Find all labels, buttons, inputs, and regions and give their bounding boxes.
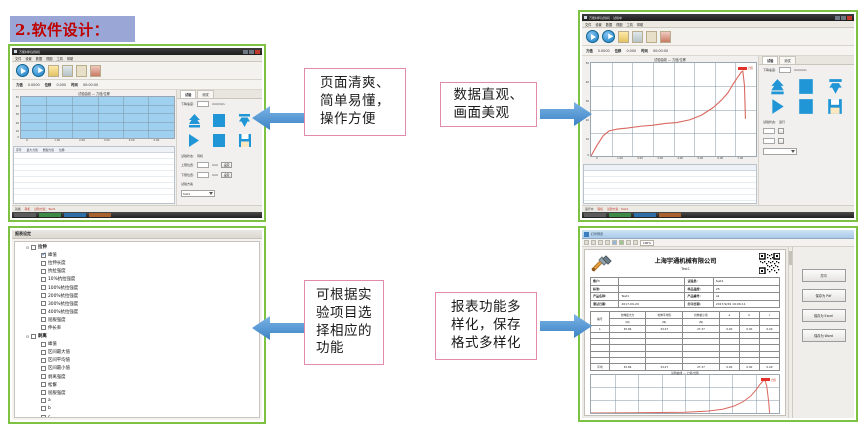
x-axis: 0 1.00 2.00 3.00 4.00 5.00 6.00 7.00 — [590, 157, 757, 163]
item-checkbox[interactable] — [41, 342, 46, 347]
page-scrollbar[interactable] — [788, 247, 792, 418]
item-checkbox[interactable] — [41, 277, 46, 282]
tree-item[interactable]: 200%抗拉强度 — [15, 292, 259, 300]
taskbar-item[interactable] — [89, 213, 111, 217]
app-window-idle: 万能材料试验机 文件 设置 数据 视图 工具 帮助 — [12, 48, 262, 218]
table-row: 标准: 样品温度: 25 — [591, 285, 780, 293]
test-state-label: 试验状态: — [181, 154, 194, 158]
lower-limit-set-button[interactable]: 设定 — [221, 172, 233, 178]
print-button[interactable]: 打印 — [802, 269, 846, 282]
cell: 45.66 — [609, 326, 646, 333]
item-checkbox[interactable] — [41, 317, 46, 322]
menu-item-help[interactable]: 帮助 — [637, 22, 643, 27]
x-tick: 1.00 — [54, 139, 60, 142]
col-b: b — [739, 312, 759, 319]
info-value: test1 — [713, 278, 779, 286]
tree-item-label: 区间最大值 — [48, 349, 70, 355]
save-pdf-button[interactable]: 保存为 Pdf — [802, 289, 846, 302]
tree-item-label: 区间最小值 — [48, 365, 70, 371]
table-row: 测试日期: 2017-09-29 打印日期: 2017/9/29 16:06:1… — [591, 300, 780, 308]
stop-button[interactable] — [794, 78, 820, 95]
tree-item-label: 屈服强度 — [48, 390, 66, 396]
app-window-running: 万能材料试验机 - 试验中 文件 设置 数据 视图 工具 帮助 — [582, 14, 854, 218]
tab-measure[interactable]: 测试 — [197, 90, 213, 98]
x-tick: 5.00 — [697, 157, 703, 160]
results-list[interactable]: 序号 最大力值 断裂力值 位移 — [13, 146, 175, 204]
y-tick: 40 — [16, 105, 19, 108]
tree-item-label: 松懈 — [48, 382, 57, 388]
tree-item[interactable]: 300%抗拉强度 — [15, 300, 259, 308]
legend-label: 力值 — [771, 378, 776, 382]
tree-item-label: 拉伸长度 — [48, 260, 66, 266]
save-excel-button[interactable]: 保存为 Excel — [802, 309, 846, 322]
item-checkbox[interactable] — [41, 382, 46, 387]
open-file-icon[interactable] — [618, 31, 629, 43]
app-icon — [584, 16, 587, 19]
status-scheme: 试验方案：Test1 — [607, 207, 628, 211]
report-chart-legend: 力值 — [761, 378, 776, 382]
tree-item-label: 抗拉强度 — [48, 268, 66, 274]
expander-icon[interactable]: ⊟ — [24, 334, 31, 339]
cell: 45.66 — [609, 363, 646, 370]
lower-limit-input[interactable] — [197, 172, 209, 178]
cell: 27.37 — [683, 326, 720, 333]
tree-item-label: 峰值 — [48, 341, 57, 347]
play-button[interactable] — [765, 98, 791, 115]
unit-c — [759, 319, 779, 326]
tree-item[interactable]: 剥离强度 — [15, 373, 259, 381]
tree-item-label: 300%抗拉强度 — [48, 301, 78, 307]
status-bar: 运行中 联机 试验方案：Test1 — [582, 205, 854, 212]
stop-button-2[interactable] — [794, 98, 820, 115]
col-c: c — [759, 312, 779, 319]
tree-item[interactable]: a — [15, 397, 259, 405]
item-checkbox[interactable] — [41, 406, 46, 411]
unit-b — [739, 319, 759, 326]
item-checkbox[interactable] — [41, 309, 46, 314]
close-icon[interactable] — [255, 50, 260, 54]
idle-plot-area[interactable] — [20, 96, 175, 139]
info-key: 标准: — [591, 285, 619, 293]
col-maxforce: 最大力值 — [27, 148, 38, 152]
next-page-icon[interactable] — [598, 240, 603, 245]
speed-label: 下降速度: — [763, 68, 776, 72]
settings-tree[interactable]: ⊟ 拉伸 峰值 拉伸长度 抗拉强度 10%抗拉强度 — [14, 241, 260, 418]
group-checkbox[interactable] — [31, 334, 36, 339]
tree-item[interactable]: 伸长率 — [15, 324, 259, 332]
settings-icon[interactable] — [632, 31, 643, 43]
results-list[interactable] — [583, 164, 757, 204]
item-checkbox[interactable] — [41, 261, 46, 266]
report-page[interactable]: 上海宇通机械有限公司 Test1 — [584, 249, 786, 416]
print-icon[interactable] — [612, 240, 617, 245]
taskbar-item[interactable] — [634, 213, 656, 217]
callout-select-fn: 可根据实验项目选择相应的功能 — [304, 280, 384, 365]
taskbar-item[interactable] — [659, 213, 681, 217]
lower-limit-label: 下限位置: — [181, 173, 194, 177]
cell: 0.00 — [719, 363, 739, 370]
time-label: 时间 — [641, 48, 648, 53]
unit-avg: (N) — [646, 319, 683, 326]
upper-limit-input[interactable] — [197, 162, 209, 168]
first-page-icon[interactable] — [584, 240, 589, 245]
x-tick: 2.00 — [637, 157, 643, 160]
tree-item[interactable]: 400%抗拉强度 — [15, 308, 259, 316]
tree-item[interactable]: 区间平均值 — [15, 356, 259, 364]
cell: 0.00 — [739, 326, 759, 333]
window-titlebar: 万能材料试验机 — [12, 48, 262, 55]
window-title-text: 万能材料试验机 — [19, 50, 40, 54]
item-checkbox[interactable] — [41, 301, 46, 306]
group-checkbox[interactable] — [31, 245, 36, 250]
tab-test[interactable]: 试验 — [180, 90, 196, 98]
limits-row-2 — [759, 136, 854, 146]
test-state-label: 试验状态: — [763, 120, 776, 124]
item-checkbox[interactable] — [41, 293, 46, 298]
y-tick: 30 — [16, 113, 19, 116]
tree-item-label: 200%抗拉强度 — [48, 293, 78, 299]
close-icon[interactable] — [847, 16, 852, 20]
open-file-icon[interactable] — [48, 65, 59, 77]
running-plot-area[interactable]: 力值 — [590, 62, 757, 157]
company-name: 上海宇通机械有限公司 — [617, 256, 754, 265]
cell: 0.00 — [719, 326, 739, 333]
tree-item-label: 10%抗拉强度 — [48, 276, 75, 282]
report-title-block: 上海宇通机械有限公司 Test1 — [617, 256, 754, 271]
window-title-text: 打印预览 — [591, 232, 603, 236]
callout-ui-clean-text: 页面清爽、简单易懂，操作方便 — [320, 75, 390, 128]
tree-item-label: c — [48, 415, 50, 418]
page-title-text: 2.软件设计： — [15, 19, 109, 40]
preview-main: 上海宇通机械有限公司 Test1 — [582, 247, 854, 418]
item-checkbox[interactable] — [41, 398, 46, 403]
menu-item-data[interactable]: 数据 — [606, 22, 612, 27]
tree-item[interactable]: 松懈 — [15, 381, 259, 389]
app-icon — [14, 50, 17, 53]
screenshot-panel-running-app: 万能材料试验机 - 试验中 文件 设置 数据 视图 工具 帮助 — [578, 10, 858, 222]
tree-item[interactable]: 100%抗拉强度 — [15, 283, 259, 291]
menu-item-data[interactable]: 数据 — [36, 56, 42, 61]
chart-column: 试验曲线 — 力值/位移 50 40 30 20 10 0 — [12, 90, 176, 205]
menu-item-view[interactable]: 视图 — [46, 56, 52, 61]
zoom-in-icon[interactable] — [626, 240, 631, 245]
tree-item[interactable]: 区间最大值 — [15, 348, 259, 356]
info-value — [619, 278, 685, 286]
info-value: 2017-09-29 — [619, 300, 685, 308]
tree-group-label: 剥离 — [38, 333, 47, 339]
tree-item-label: a — [48, 398, 51, 403]
legend-label: 力值 — [748, 66, 753, 70]
speed-input[interactable] — [197, 101, 209, 107]
status-state: 运行中 — [585, 207, 593, 211]
menu-item-tools[interactable]: 工具 — [57, 56, 63, 61]
tree-group-label: 拉伸 — [38, 244, 47, 250]
info-value: 25 — [713, 285, 779, 293]
callout-ui-clean: 页面清爽、简单易懂，操作方便 — [304, 68, 406, 136]
speed-label: 下降速度: — [181, 102, 194, 106]
item-checkbox[interactable] — [41, 285, 46, 290]
col-max: 拉伸最大力 — [609, 312, 646, 319]
status-scheme: 试验方案：Test1 — [34, 207, 55, 211]
tree-item[interactable]: 屈服强度 — [15, 389, 259, 397]
force-value: 0.0000 — [28, 83, 40, 87]
table-header-row: 编号 拉伸最大力 拉伸平均值 拉伸最小值 a b c — [591, 312, 780, 319]
taskbar-item[interactable] — [584, 213, 606, 217]
chevron-down-icon — [209, 192, 213, 195]
report-force-curve — [591, 375, 779, 413]
item-checkbox[interactable] — [41, 374, 46, 379]
force-label: 力值 — [16, 82, 23, 87]
cell: 0.00 — [739, 363, 759, 370]
y-axis: 50 40 30 20 10 0 — [13, 96, 20, 139]
save-button[interactable] — [822, 98, 848, 115]
printer-icon — [584, 232, 589, 237]
limit-input-b[interactable] — [763, 138, 775, 144]
y-tick: 10 — [586, 138, 589, 141]
item-checkbox[interactable] — [41, 253, 46, 258]
scheme-select[interactable] — [763, 148, 797, 155]
item-checkbox[interactable] — [41, 358, 46, 363]
tree-item[interactable]: c — [15, 413, 259, 418]
force-label: 力值 — [586, 48, 593, 53]
lower-limit-unit: mm — [212, 173, 218, 177]
maximize-icon[interactable] — [841, 16, 846, 20]
info-key: 试验员: — [685, 278, 713, 286]
menu-bar[interactable]: 文件 设置 数据 视图 工具 帮助 — [582, 21, 854, 28]
tree-item[interactable]: 峰值 — [15, 251, 259, 259]
qr-code — [759, 253, 780, 274]
displacement-label: 位移 — [615, 48, 622, 53]
tree-item[interactable]: 10%抗拉强度 — [15, 275, 259, 283]
start-test-icon[interactable] — [16, 64, 29, 77]
plot-wrapper: 50 40 30 20 10 0 — [13, 96, 175, 139]
scheme-select[interactable]: Test1 — [181, 190, 215, 197]
table-row[interactable] — [584, 195, 756, 201]
menu-item-help[interactable]: 帮助 — [67, 56, 73, 61]
col-index: 序号 — [16, 148, 22, 152]
minimize-icon[interactable] — [243, 50, 248, 54]
force-displacement-curve — [591, 63, 756, 156]
item-checkbox[interactable] — [41, 390, 46, 395]
limit-input-a[interactable] — [763, 128, 775, 134]
x-tick: 0 — [26, 139, 28, 142]
info-value — [619, 285, 685, 293]
report-icon[interactable] — [660, 31, 671, 43]
taskbar-item[interactable] — [39, 213, 61, 217]
status-bar: 就绪 联机 试验方案：Test1 — [12, 205, 262, 212]
callout-select-fn-text: 可根据实验项目选择相应的功能 — [316, 287, 372, 358]
taskbar[interactable] — [582, 212, 854, 218]
menu-item-file[interactable]: 文件 — [15, 56, 21, 61]
menu-item-setup[interactable]: 设置 — [595, 22, 601, 27]
state-row: 试验状态: 运行 — [759, 118, 854, 126]
callout-data-view-text: 数据直观、画面美观 — [454, 87, 524, 123]
taskbar-item[interactable] — [609, 213, 631, 217]
maximize-icon[interactable] — [249, 50, 254, 54]
toolbar[interactable] — [12, 62, 262, 80]
table-row: 1 45.66 34.27 27.37 0.00 0.00 0.00 — [591, 326, 780, 333]
upper-limit-label: 上限位置: — [181, 163, 194, 167]
tree-group-tensile[interactable]: ⊟ 拉伸 — [15, 243, 259, 251]
y-tick: 50 — [586, 62, 589, 65]
col-avg: 拉伸平均值 — [646, 312, 683, 319]
side-control-panel: 试验 测试 下降速度: mm/min — [758, 56, 854, 205]
info-key: 产品名称: — [591, 293, 619, 301]
export-icon[interactable] — [619, 240, 624, 245]
taskbar-item[interactable] — [14, 213, 36, 217]
force-value: 0.0000 — [598, 49, 610, 53]
upper-limit-set-button[interactable]: 设定 — [221, 162, 233, 168]
y-tick: 50 — [16, 96, 19, 99]
tree-item-label: b — [48, 406, 51, 411]
y-tick: 10 — [16, 130, 19, 133]
taskbar-item[interactable] — [64, 213, 86, 217]
move-up-button[interactable] — [765, 78, 791, 95]
tree-item[interactable]: 屈服强度 — [15, 316, 259, 324]
report-info-table: 客户: 试验员: test1 标准: 样品温度: 25 产品名称: — [590, 277, 780, 308]
minimize-icon[interactable] — [835, 16, 840, 20]
table-unit-row: (N) (N) (N) — [591, 319, 780, 326]
y-tick: 20 — [16, 122, 19, 125]
item-checkbox[interactable] — [41, 415, 46, 418]
slide-canvas: 2.软件设计： 万能材料试验机 文件 设置 数据 视图 工具 — [0, 0, 865, 434]
cell: 34.27 — [646, 363, 683, 370]
item-checkbox[interactable] — [41, 350, 46, 355]
table-row: 客户: 试验员: test1 — [591, 278, 780, 286]
plot-wrapper: 50 40 30 20 10 0 — [583, 62, 757, 157]
col-a: a — [719, 312, 739, 319]
x-tick: 4.00 — [677, 157, 683, 160]
displacement-value: 0.000 — [626, 49, 636, 53]
y-tick: 0 — [587, 154, 589, 157]
expander-icon[interactable]: ⊟ — [24, 245, 31, 250]
tree-item-label: 400%抗拉强度 — [48, 309, 78, 315]
time-label: 时间 — [71, 82, 78, 87]
preview-toolbar[interactable]: 100% — [582, 239, 854, 247]
window-titlebar: 万能材料试验机 - 试验中 — [582, 14, 854, 21]
prev-page-icon[interactable] — [591, 240, 596, 245]
app-body: 试验曲线 — 力值/位移 50 40 30 20 10 0 — [582, 56, 854, 205]
limit-set-button-b[interactable] — [778, 138, 784, 144]
readout-bar: 力值 0.0000 位移 0.000 时间 00:00:00 — [12, 80, 262, 90]
start-test-icon[interactable] — [586, 30, 599, 43]
displacement-label: 位移 — [45, 82, 52, 87]
tree-item[interactable]: 峰值 — [15, 340, 259, 348]
callout-report-text: 报表功能多样化，保存格式多样化 — [451, 299, 521, 352]
x-tick: 3.00 — [104, 139, 110, 142]
report-icon[interactable] — [90, 65, 101, 77]
stop-button[interactable] — [208, 112, 230, 129]
scheme-value: Test1 — [183, 192, 190, 196]
item-checkbox[interactable] — [41, 366, 46, 371]
tree-item-label: 剥离强度 — [48, 374, 66, 380]
last-page-icon[interactable] — [605, 240, 610, 245]
speed-unit: mm/min — [212, 102, 225, 106]
tree-group-peel[interactable]: ⊟ 剥离 — [15, 332, 259, 340]
lower-limit-row: 下限位置: mm 设定 — [177, 170, 262, 180]
screenshot-panel-report-preview: 打印预览 100% — [578, 226, 858, 422]
status-ready: 就绪 — [15, 207, 21, 211]
x-tick: 0 — [596, 157, 598, 160]
chevron-down-icon — [791, 150, 795, 153]
report-chart: 试验曲线 — 力值/位移 力值 — [590, 374, 780, 414]
legend-swatch — [738, 67, 747, 70]
settings-icon[interactable] — [62, 65, 73, 77]
stop-button-2[interactable] — [208, 132, 230, 149]
taskbar[interactable] — [12, 212, 262, 218]
arrow-left-top — [250, 100, 306, 136]
callout-data-view: 数据直观、画面美观 — [440, 82, 537, 127]
cell: 34.27 — [646, 326, 683, 333]
control-buttons[interactable] — [759, 75, 854, 118]
menu-item-tools[interactable]: 工具 — [627, 22, 633, 27]
item-checkbox[interactable] — [41, 269, 46, 274]
item-checkbox[interactable] — [41, 325, 46, 330]
tree-item[interactable]: b — [15, 405, 259, 413]
report-preview-window: 打印预览 100% — [582, 230, 854, 418]
x-tick: 7.00 — [737, 157, 743, 160]
panel-tabs[interactable]: 试验 测试 — [759, 56, 854, 65]
play-button[interactable] — [183, 132, 205, 149]
table-row[interactable] — [14, 189, 174, 195]
x-axis: 0 1.00 2.00 3.00 4.00 5.00 — [20, 139, 175, 145]
x-tick: 3.00 — [657, 157, 663, 160]
tree-item[interactable]: 区间最小值 — [15, 364, 259, 372]
tree-item[interactable]: 抗拉强度 — [15, 267, 259, 275]
tab-measure[interactable]: 测试 — [779, 56, 795, 64]
menu-item-view[interactable]: 视图 — [616, 22, 622, 27]
zoom-out-icon[interactable] — [633, 240, 638, 245]
zoom-level[interactable]: 100% — [640, 240, 654, 246]
time-value: 00:00:00 — [653, 49, 668, 53]
x-tick: 4.00 — [129, 139, 135, 142]
menu-bar[interactable]: 文件 设置 数据 视图 工具 帮助 — [12, 55, 262, 62]
reset-icon[interactable] — [32, 64, 45, 77]
chart-column: 试验曲线 — 力值/位移 50 40 30 20 10 0 — [582, 56, 758, 205]
toolbar[interactable] — [582, 28, 854, 46]
move-up-button[interactable] — [183, 112, 205, 129]
info-key: 测试日期: — [591, 300, 619, 308]
tree-item[interactable]: 拉伸长度 — [15, 259, 259, 267]
report-header: 上海宇通机械有限公司 Test1 — [585, 250, 785, 275]
specimen-icon[interactable] — [76, 65, 87, 77]
speed-row: 下降速度: mm/min — [759, 65, 854, 75]
state-row: 试验状态: 待机 — [177, 152, 262, 160]
reset-icon[interactable] — [602, 30, 615, 43]
scheme-label-row: 试验方案 — [177, 180, 262, 188]
col-breakforce: 断裂力值 — [43, 148, 54, 152]
screenshot-panel-idle-app: 万能材料试验机 文件 设置 数据 视图 工具 帮助 — [8, 44, 266, 222]
window-buttons[interactable] — [835, 16, 852, 20]
menu-item-setup[interactable]: 设置 — [25, 56, 31, 61]
save-word-button[interactable]: 保存为 Word — [802, 329, 846, 342]
window-buttons[interactable] — [243, 50, 260, 54]
info-value: Test1 — [619, 293, 685, 301]
limit-set-button-a[interactable] — [778, 128, 784, 134]
specimen-icon[interactable] — [646, 31, 657, 43]
tab-test[interactable]: 试验 — [762, 56, 778, 64]
unit-min: (N) — [683, 319, 720, 326]
move-down-button[interactable] — [822, 78, 848, 95]
panel-tabs[interactable]: 试验 测试 — [177, 90, 262, 99]
speed-input[interactable] — [779, 67, 791, 73]
window-titlebar: 报表设定 — [12, 230, 262, 239]
arrow-left-bottom — [250, 310, 306, 346]
menu-item-file[interactable]: 文件 — [585, 22, 591, 27]
callout-report: 报表功能多样化，保存格式多样化 — [435, 292, 537, 360]
report-data-table: 编号 拉伸最大力 拉伸平均值 拉伸最小值 a b c (N) (N) (N) — [590, 311, 780, 371]
x-tick: 2.00 — [79, 139, 85, 142]
